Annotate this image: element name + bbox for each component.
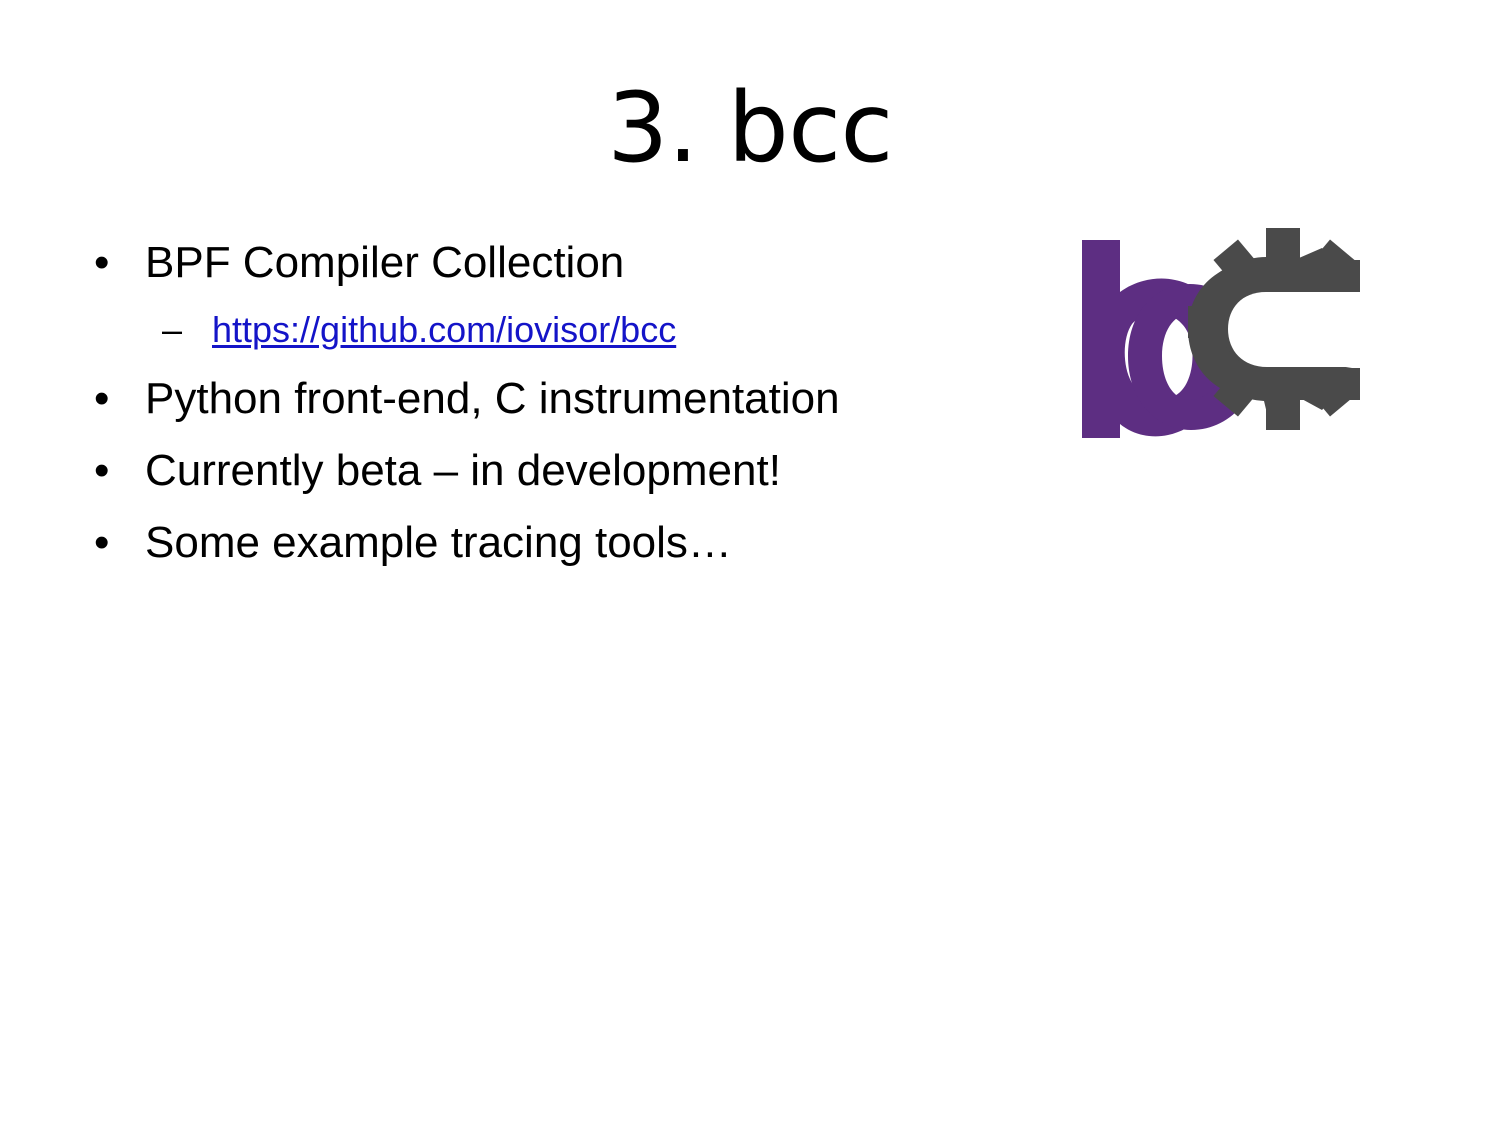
list-item: • BPF Compiler Collection bbox=[88, 234, 1048, 292]
dash-bullet-icon: – bbox=[162, 306, 212, 354]
sub-list-item: – https://github.com/iovisor/bcc bbox=[88, 306, 1048, 354]
bullet-list: • BPF Compiler Collection – https://gith… bbox=[88, 234, 1048, 586]
list-item-label: Some example tracing tools… bbox=[145, 514, 1048, 572]
bullet-dot-icon: • bbox=[88, 514, 145, 572]
list-item: • Some example tracing tools… bbox=[88, 514, 1048, 572]
list-item-label: Python front-end, C instrumentation bbox=[145, 370, 1048, 428]
bullet-dot-icon: • bbox=[88, 370, 145, 428]
list-item-label: BPF Compiler Collection bbox=[145, 234, 1048, 292]
list-item: • Currently beta – in development! bbox=[88, 442, 1048, 500]
list-item-label: Currently beta – in development! bbox=[145, 442, 1048, 500]
page-title: 3. bcc bbox=[0, 78, 1500, 179]
list-item: • Python front-end, C instrumentation bbox=[88, 370, 1048, 428]
github-link[interactable]: https://github.com/iovisor/bcc bbox=[212, 306, 1048, 354]
slide-canvas: 3. bcc • BPF Compiler Collection – https… bbox=[0, 0, 1500, 1125]
bcc-logo bbox=[1070, 228, 1360, 450]
bullet-dot-icon: • bbox=[88, 442, 145, 500]
bullet-dot-icon: • bbox=[88, 234, 145, 292]
bcc-logo-graphic bbox=[1070, 228, 1360, 450]
